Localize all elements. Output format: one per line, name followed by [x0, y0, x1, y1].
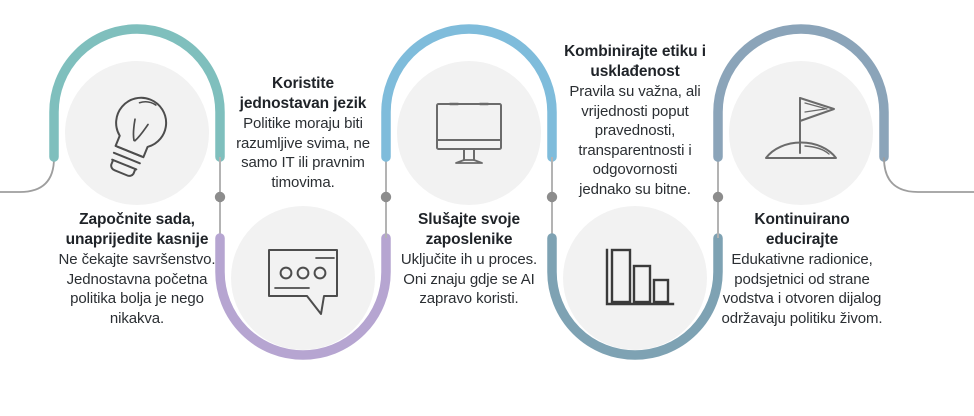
step-3-text: Slušajte svoje zaposlenike Uključite ih … — [356, 210, 582, 309]
step-3-title: Slušajte svoje zaposlenike — [356, 210, 582, 250]
step-2-text: Koristite jednostavan jezik Politike mor… — [190, 74, 416, 192]
step-3-body: Uključite ih u proces. Oni znaju gdje se… — [356, 250, 582, 309]
step-1-text: Započnite sada, unaprijedite kasnije Ne … — [24, 210, 250, 328]
infographic-canvas: Započnite sada, unaprijedite kasnije Ne … — [0, 0, 974, 416]
step-5-title: Kontinuirano educirajte — [682, 210, 922, 250]
step-4-text: Kombinirajte etiku i usklađenost Pravila… — [522, 42, 748, 199]
right-exit-tail — [884, 158, 974, 192]
step-4-body: Pravila su važna, ali vrijednosti poput … — [522, 82, 748, 199]
step-1-title: Započnite sada, unaprijedite kasnije — [24, 210, 250, 250]
step-4-title: Kombinirajte etiku i usklađenost — [522, 42, 748, 82]
step-1-body: Ne čekajte savršenstvo. Jednostavna poče… — [24, 250, 250, 328]
step-2-title: Koristite jednostavan jezik — [190, 74, 416, 114]
step-5-body: Edukativne radionice, podsjetnici od str… — [682, 250, 922, 328]
step-1-icon-circle — [65, 61, 209, 205]
connector-dot-2 — [381, 192, 391, 202]
connector-dot-1 — [215, 192, 225, 202]
arch-diagram — [0, 0, 974, 416]
step-2-body: Politike moraju biti razumljive svima, n… — [190, 114, 416, 192]
step-3-icon-circle — [397, 61, 541, 205]
left-entry-tail — [0, 158, 54, 192]
step-5-text: Kontinuirano educirajte Edukativne radio… — [682, 210, 922, 328]
